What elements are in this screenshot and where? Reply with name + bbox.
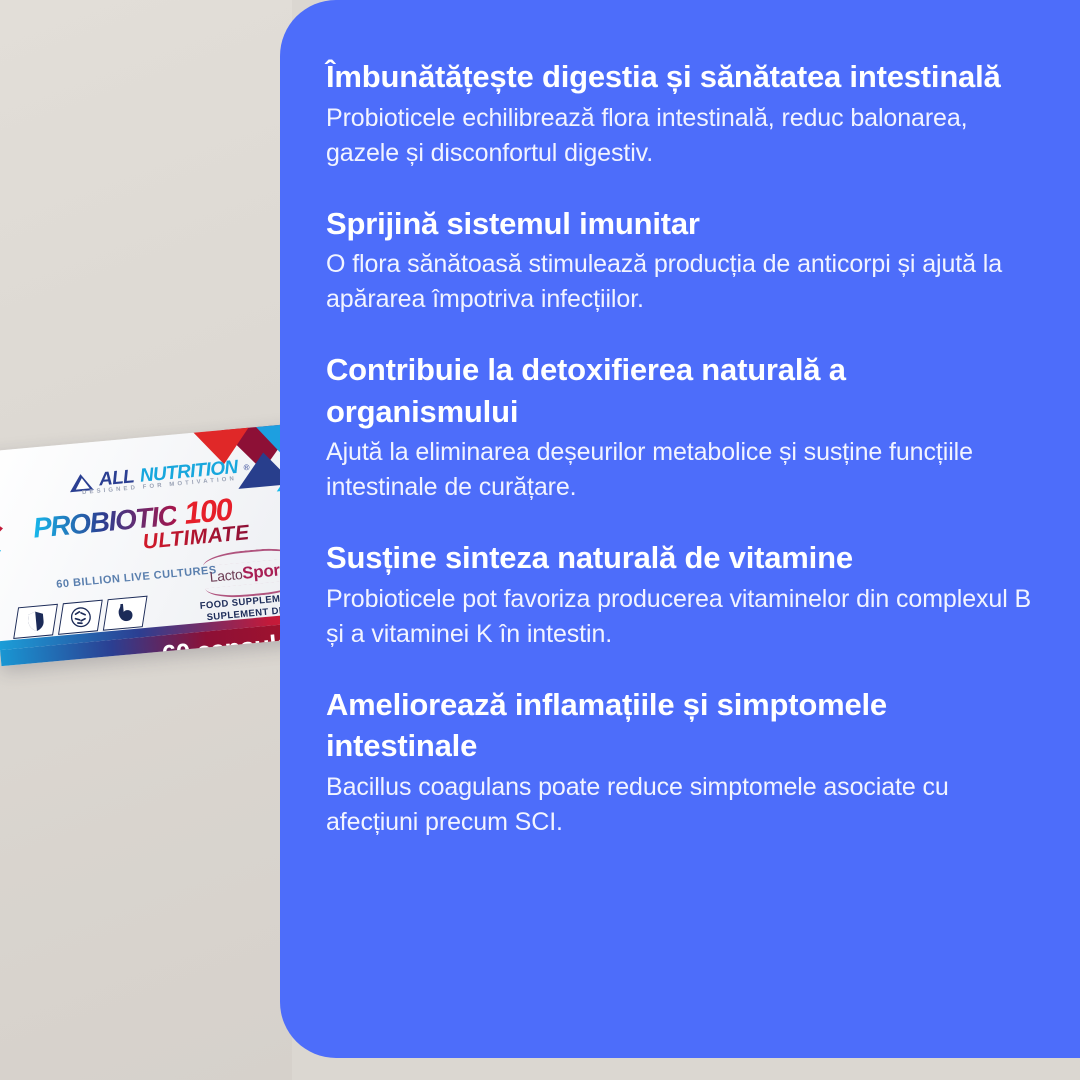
benefit-title: Ameliorează inflamațiile și simptomele i… (326, 684, 1040, 767)
benefit-description: O flora sănătoasă stimulează producția d… (326, 247, 1040, 317)
lactospore-prefix: Lacto (209, 566, 243, 585)
benefit-item: Susține sinteza naturală de vitamine Pro… (326, 537, 1040, 652)
shield-icon (26, 610, 45, 632)
benefit-title: Sprijină sistemul imunitar (326, 203, 1040, 245)
benefit-description: Probioticele echilibrează flora intestin… (326, 101, 1040, 171)
benefit-description: Bacillus coagulans poate reduce simptome… (326, 770, 1040, 840)
benefit-title: Susține sinteza naturală de vitamine (326, 537, 1040, 579)
benefits-panel: Îmbunătățește digestia și sănătatea inte… (280, 0, 1080, 1058)
benefit-description: Probioticele pot favoriza producerea vit… (326, 582, 1040, 652)
benefit-title: Îmbunătățește digestia și sănătatea inte… (326, 56, 1040, 98)
benefit-item: Sprijină sistemul imunitar O flora sănăt… (326, 203, 1040, 318)
stomach-icon (114, 602, 136, 625)
benefit-item: Îmbunătățește digestia și sănătatea inte… (326, 56, 1040, 171)
stomach-icon-cell (103, 596, 148, 631)
shield-icon-cell (13, 604, 58, 639)
benefit-description: Ajută la eliminarea deșeurilor metabolic… (326, 435, 1040, 505)
registered-mark: ® (243, 462, 250, 471)
lactospore-logo: LactoSpore® (202, 546, 292, 601)
bacteria-icon-cell (58, 600, 103, 635)
benefit-title: Contribuie la detoxifierea naturală a or… (326, 349, 1040, 432)
benefit-item: Contribuie la detoxifierea naturală a or… (326, 349, 1040, 505)
benefit-item: Ameliorează inflamațiile și simptomele i… (326, 684, 1040, 840)
product-package: ALL NUTRITION ® DESIGNED FOR MOTIVATION … (0, 423, 292, 666)
live-cultures-label: 60 BILLION LIVE CULTURES (56, 564, 217, 591)
product-image-stage: ALL NUTRITION ® DESIGNED FOR MOTIVATION … (0, 0, 292, 1080)
bacteria-icon (69, 606, 92, 629)
